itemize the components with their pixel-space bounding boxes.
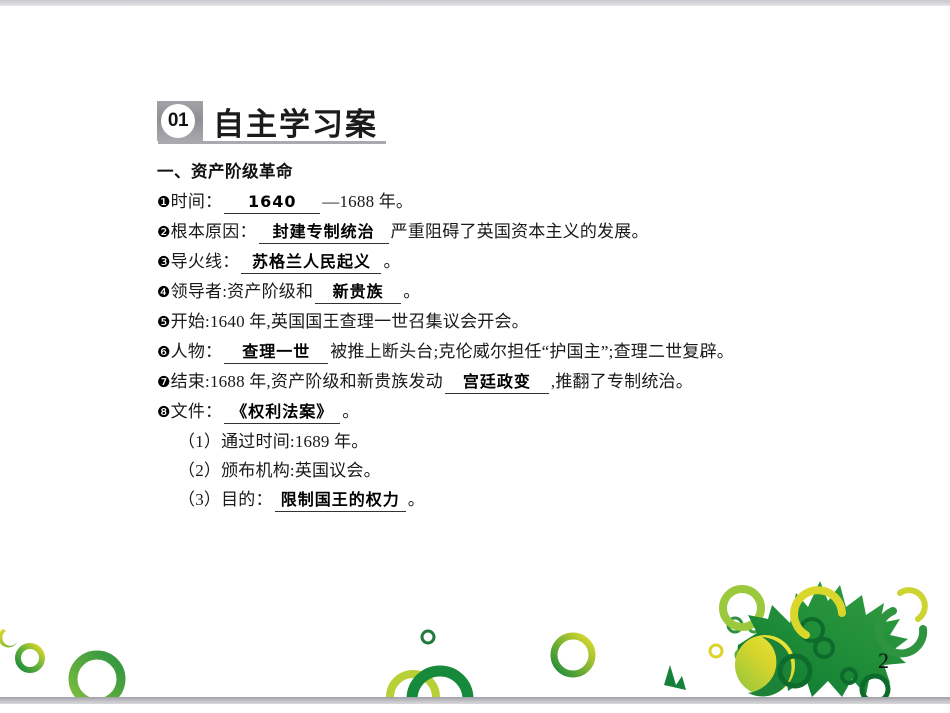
item-marker: ❼ bbox=[157, 373, 171, 391]
item-suffix: ,推翻了专制统治。 bbox=[551, 372, 693, 391]
list-item: ❸导火线：苏格兰人民起义。 bbox=[157, 247, 857, 277]
item-prefix: 领导者:资产阶级和 bbox=[171, 282, 314, 301]
leaf-ring-5 bbox=[801, 619, 823, 641]
item-marker: ❽ bbox=[157, 403, 171, 421]
ring-leaf-left-large bbox=[723, 589, 761, 627]
list-item: ❹领导者:资产阶级和新贵族。 bbox=[157, 277, 857, 307]
section-title: 自主学习案 bbox=[213, 99, 378, 144]
arc-yellow-right bbox=[900, 590, 925, 619]
item-prefix: 文件： bbox=[171, 402, 223, 421]
page-number: 2 bbox=[878, 648, 889, 674]
spike-shape bbox=[664, 665, 686, 690]
item-suffix: —1688 年。 bbox=[322, 192, 413, 211]
answer-blank[interactable]: 苏格兰人民起义 bbox=[241, 251, 381, 274]
item-prefix: 时间： bbox=[171, 192, 223, 211]
answer-blank[interactable]: 《权利法案》 bbox=[224, 401, 340, 424]
item-suffix: 。 bbox=[403, 282, 420, 301]
ring-tiny-leaf-upper bbox=[728, 618, 742, 632]
ring-tiny-right bbox=[710, 645, 722, 657]
item-suffix: 被推上断头台;克伦威尔担任“护国主”;查理二世复辟。 bbox=[330, 342, 734, 361]
sub-item-prefix: （3）目的： bbox=[178, 490, 273, 509]
ring-tiny-center-left bbox=[422, 631, 434, 643]
answer-blank[interactable]: 宫廷政变 bbox=[445, 371, 549, 394]
item-marker: ❸ bbox=[157, 253, 171, 271]
item-marker: ❹ bbox=[157, 283, 171, 301]
ring-small-left bbox=[18, 646, 42, 670]
answer-blank[interactable]: 限制国王的权力 bbox=[275, 489, 406, 512]
item-prefix: 导火线： bbox=[171, 252, 240, 271]
sub-list-item: （2）颁布机构:英国议会。 bbox=[157, 456, 857, 485]
section-number-badge: 01 bbox=[157, 101, 203, 141]
answer-blank[interactable]: 封建专制统治 bbox=[259, 221, 389, 244]
item-marker: ❶ bbox=[157, 193, 171, 211]
bottom-rail bbox=[0, 697, 950, 704]
subsection-heading: 一、资产阶级革命 bbox=[157, 158, 857, 182]
header-underline bbox=[158, 141, 386, 144]
arc-yellow-upper bbox=[794, 590, 842, 635]
item-prefix: 结束:1688 年,资产阶级和新贵族发动 bbox=[171, 372, 443, 391]
item-marker: ❷ bbox=[157, 223, 171, 241]
item-prefix: 根本原因： bbox=[171, 222, 257, 241]
gradient-ball bbox=[735, 635, 795, 695]
sub-list-item: （1）通过时间:1689 年。 bbox=[157, 427, 857, 456]
sub-item-suffix: 。 bbox=[408, 490, 425, 509]
footer-decoration bbox=[0, 545, 950, 705]
item-marker: ❺ bbox=[157, 313, 171, 331]
top-rail bbox=[0, 0, 950, 6]
item-suffix: 。 bbox=[383, 252, 400, 271]
ring-medium-left bbox=[73, 655, 121, 703]
item-marker: ❻ bbox=[157, 343, 171, 361]
answer-blank[interactable]: 新贵族 bbox=[315, 281, 401, 304]
list-item: ❼结束:1688 年,资产阶级和新贵族发动宫廷政变,推翻了专制统治。 bbox=[157, 367, 857, 397]
section-number-label: 01 bbox=[161, 104, 195, 138]
bottom-rail-shadow bbox=[0, 704, 950, 713]
list-item: ❻人物：查理一世被推上断头台;克伦威尔担任“护国主”;查理二世复辟。 bbox=[157, 337, 857, 367]
list-item: ❺开始:1640 年,英国国王查理一世召集议会开会。 bbox=[157, 307, 857, 337]
leaf-ball-overlap bbox=[748, 637, 792, 696]
list-item: ❷根本原因：封建专制统治严重阻碍了英国资本主义的发展。 bbox=[157, 217, 857, 247]
ring-tiny-leaf-left bbox=[736, 650, 746, 660]
ring-tiny-leaf-lower bbox=[749, 622, 759, 632]
sub-list-item: （3）目的：限制国王的权力。 bbox=[157, 485, 857, 514]
leaf-ring-1 bbox=[780, 656, 810, 686]
answer-blank[interactable]: 查理一世 bbox=[224, 341, 328, 364]
leaf-ring-2 bbox=[815, 639, 833, 657]
sub-item-prefix: （2）颁布机构:英国议会。 bbox=[178, 461, 381, 480]
maple-leaf-icon bbox=[738, 581, 908, 697]
item-prefix: 人物： bbox=[171, 342, 223, 361]
crescent-shape-icon bbox=[0, 629, 18, 647]
list-item: ❽文件：《权利法案》。 bbox=[157, 397, 857, 427]
answer-blank[interactable]: 1640 bbox=[224, 191, 320, 214]
list-item: ❶时间：1640—1688 年。 bbox=[157, 187, 857, 217]
sub-item-prefix: （1）通过时间:1689 年。 bbox=[178, 432, 368, 451]
content-body: 一、资产阶级革命 ❶时间：1640—1688 年。 ❷根本原因：封建专制统治严重… bbox=[157, 158, 857, 514]
item-suffix: 。 bbox=[342, 402, 359, 421]
leaf-ring-3 bbox=[842, 669, 856, 683]
slide-canvas: 01 自主学习案 一、资产阶级革命 ❶时间：1640—1688 年。 ❷根本原因… bbox=[0, 0, 950, 713]
item-suffix: 严重阻碍了英国资本主义的发展。 bbox=[391, 222, 649, 241]
item-prefix: 开始:1640 年,英国国王查理一世召集议会开会。 bbox=[171, 312, 529, 331]
ring-medium-center bbox=[554, 636, 592, 674]
